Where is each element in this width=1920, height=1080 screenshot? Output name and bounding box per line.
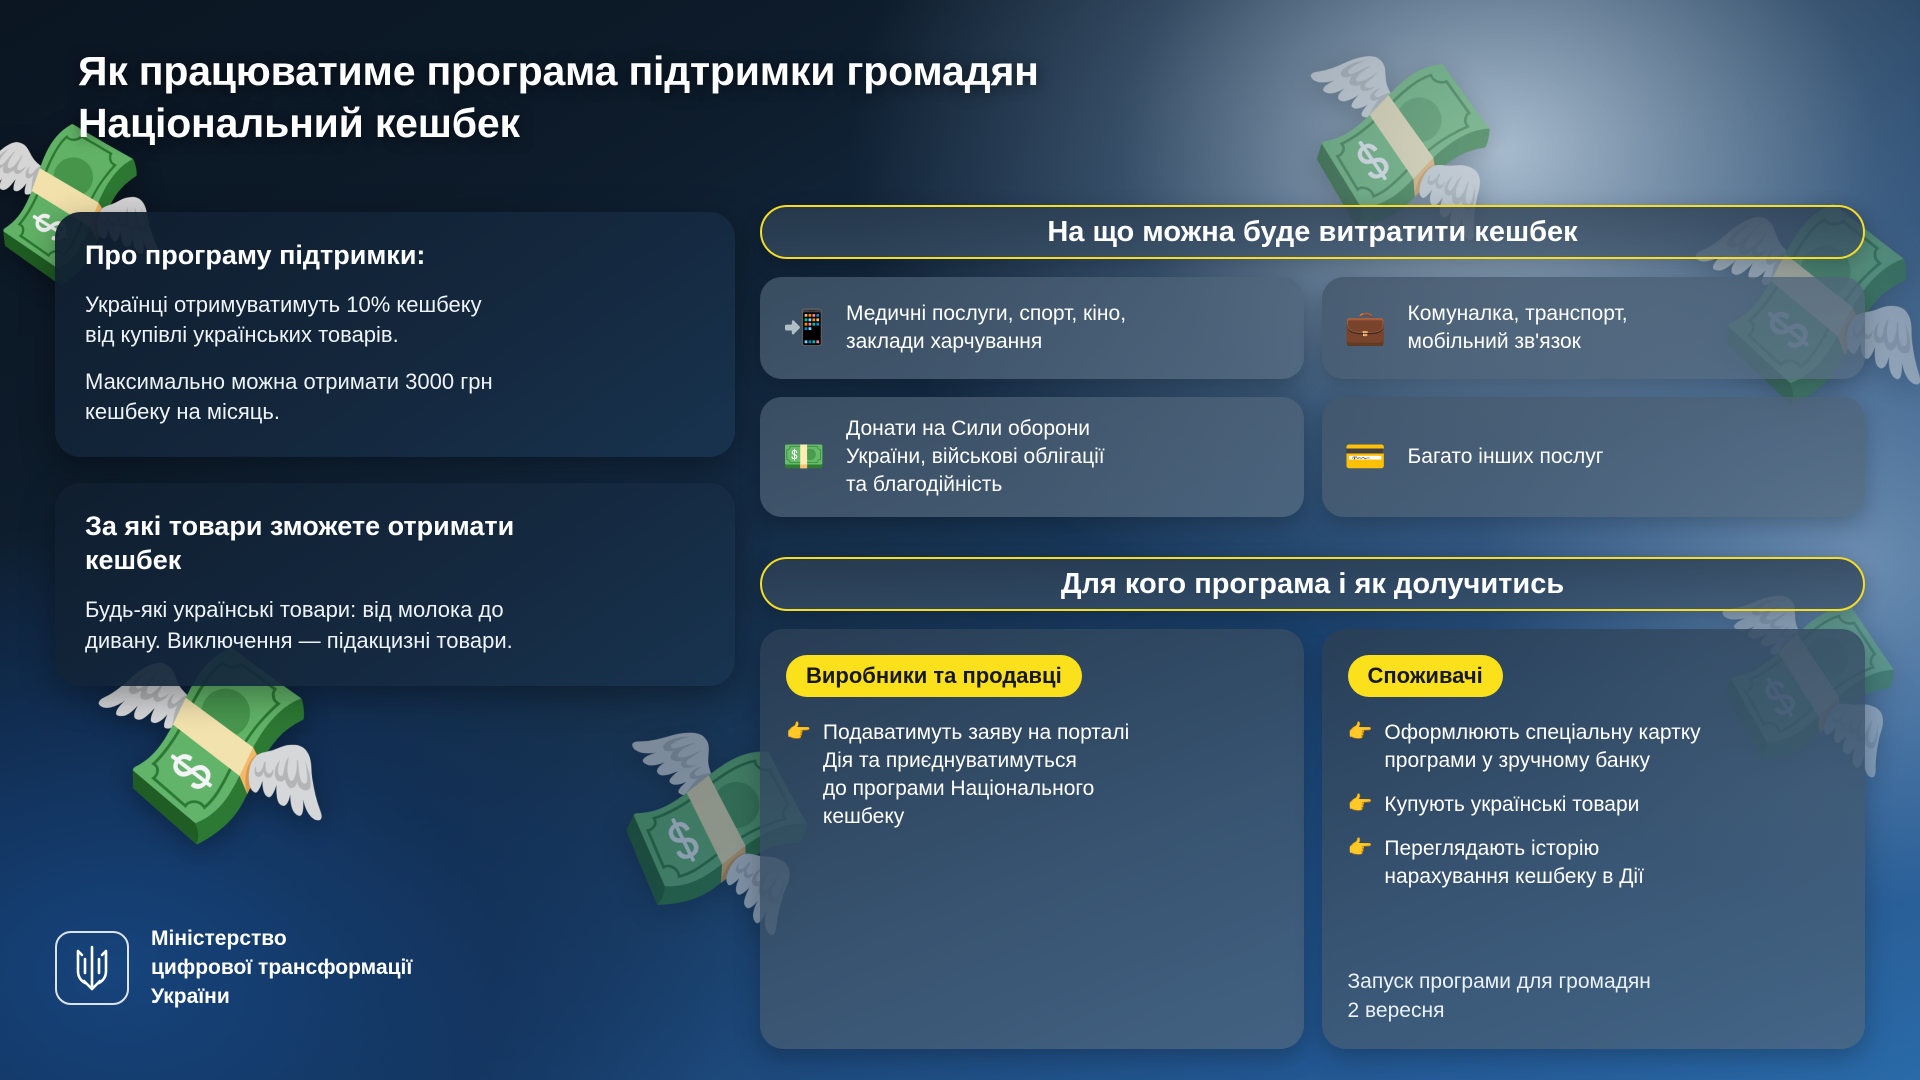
spend-card-text: Комуналка, транспорт, мобільний зв'язок	[1408, 300, 1628, 356]
launch-note: Запуск програми для громадян 2 вересня	[1348, 968, 1840, 1025]
consumers-badge: Споживачі	[1348, 655, 1503, 697]
spend-section-banner: На що можна буде витратити кешбек	[760, 205, 1865, 259]
eligible-goods-heading: За які товари зможете отримати кешбек	[85, 509, 705, 577]
pointing-right-hand-icon: 👉	[1348, 791, 1373, 819]
producers-badge: Виробники та продавці	[786, 655, 1082, 697]
spend-card-text: Донати на Сили оборони України, військов…	[846, 415, 1105, 499]
page-title: Як працюватиме програма підтримки громад…	[78, 45, 1278, 150]
ministry-footer: Міністерство цифрової трансформації Укра…	[55, 925, 412, 1012]
spend-card: 💼 Комуналка, транспорт, мобільний зв'язо…	[1322, 277, 1866, 379]
spend-card: 💵 Донати на Сили оборони України, військ…	[760, 397, 1304, 517]
ministry-name: Міністерство цифрової трансформації Укра…	[151, 925, 412, 1012]
trident-emblem-icon	[55, 931, 129, 1005]
mobile-phone-with-arrow-icon: 📲	[782, 311, 826, 345]
briefcase-icon: 💼	[1344, 311, 1388, 345]
who-card-consumers: Споживачі 👉 Оформлюють спеціальну картку…	[1322, 629, 1866, 1049]
who-card-producers: Виробники та продавці 👉 Подаватимуть зая…	[760, 629, 1304, 1049]
about-program-paragraph-2: Максимально можна отримати 3000 грн кешб…	[85, 367, 705, 428]
eligible-goods-card: За які товари зможете отримати кешбек Бу…	[55, 483, 735, 686]
spend-card-text: Багато інших послуг	[1408, 443, 1604, 471]
spend-card-grid: 📲 Медичні послуги, спорт, кіно, заклади …	[760, 277, 1865, 517]
infographic-canvas: 💸 💸 💸 💸 💸 💸 Як працюватиме програма підт…	[0, 0, 1920, 1080]
pointing-right-hand-icon: 👉	[1348, 719, 1373, 747]
about-program-heading: Про програму підтримки:	[85, 238, 705, 272]
about-program-paragraph-1: Українці отримуватимуть 10% кешбеку від …	[85, 290, 705, 351]
dollar-banknote-icon: 💵	[782, 440, 826, 474]
credit-card-icon: 💳	[1344, 440, 1388, 474]
list-item: 👉 Купують українські товари	[1348, 791, 1840, 819]
who-card-grid: Виробники та продавці 👉 Подаватимуть зая…	[760, 629, 1865, 1049]
spend-card: 💳 Багато інших послуг	[1322, 397, 1866, 517]
right-column: На що можна буде витратити кешбек 📲 Меди…	[760, 205, 1865, 1049]
about-program-card: Про програму підтримки: Українці отримув…	[55, 212, 735, 457]
producers-list: 👉 Подаватимуть заяву на порталі Дія та п…	[786, 719, 1278, 847]
list-item: 👉 Оформлюють спеціальну картку програми …	[1348, 719, 1840, 775]
list-item-text: Оформлюють спеціальну картку програми у …	[1384, 719, 1700, 775]
list-item-text: Купують українські товари	[1384, 791, 1639, 819]
pointing-right-hand-icon: 👉	[1348, 835, 1373, 863]
pointing-right-hand-icon: 👉	[786, 719, 811, 747]
list-item: 👉 Подаватимуть заяву на порталі Дія та п…	[786, 719, 1278, 831]
left-column: Про програму підтримки: Українці отримув…	[55, 212, 735, 712]
consumers-list: 👉 Оформлюють спеціальну картку програми …	[1348, 719, 1840, 907]
list-item-text: Переглядають історію нарахування кешбеку…	[1384, 835, 1644, 891]
list-item-text: Подаватимуть заяву на порталі Дія та при…	[823, 719, 1129, 831]
spend-card-text: Медичні послуги, спорт, кіно, заклади ха…	[846, 300, 1126, 356]
who-section-banner: Для кого програма і як долучитись	[760, 557, 1865, 611]
eligible-goods-paragraph-1: Будь-які українські товари: від молока д…	[85, 595, 705, 656]
list-item: 👉 Переглядають історію нарахування кешбе…	[1348, 835, 1840, 891]
spend-card: 📲 Медичні послуги, спорт, кіно, заклади …	[760, 277, 1304, 379]
